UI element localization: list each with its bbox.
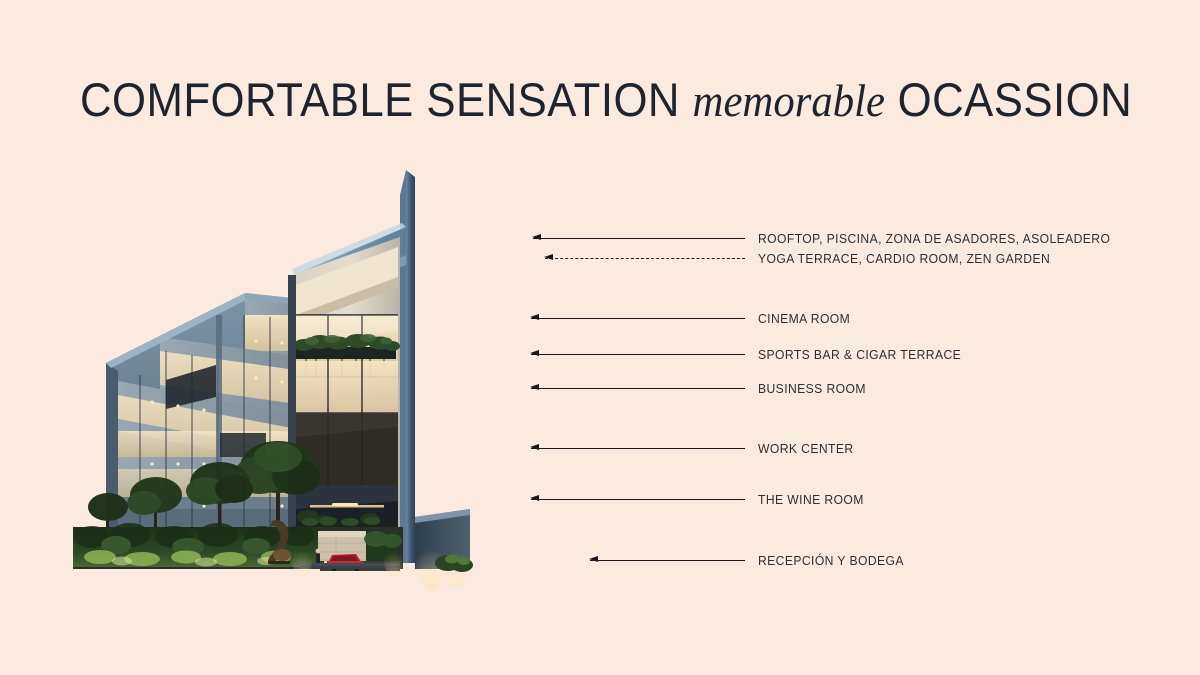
callout-row: ROOFTOP, PISCINA, ZONA DE ASADORES, ASOL… [533,228,1141,248]
callout-label: RECEPCIÓN Y BODEGA [758,553,904,568]
callout-row: BUSINESS ROOM [531,378,875,398]
callout-row: CINEMA ROOM [531,308,858,328]
callout-label: CINEMA ROOM [758,311,850,326]
right-side-wall [415,509,473,591]
presentation-slide: COMFORTABLE SENSATION memorable OCASSION [0,0,1200,675]
title-part-three: OCASSION [885,73,1132,126]
slide-title: COMFORTABLE SENSATION memorable OCASSION [80,74,1200,127]
tower [288,170,415,565]
title-part-one: COMFORTABLE SENSATION [80,73,693,126]
callout-arrow [590,560,745,561]
arrow-shaft [590,560,745,561]
callout-label: WORK CENTER [758,441,854,456]
callout-label: THE WINE ROOM [758,492,864,507]
callout-label: SPORTS BAR & CIGAR TERRACE [758,347,961,362]
arrow-head-icon [589,556,598,562]
callout-label: BUSINESS ROOM [758,381,866,396]
callout-label: YOGA TERRACE, CARDIO ROOM, ZEN GARDEN [758,251,1050,266]
callout-row: THE WINE ROOM [531,489,873,509]
callout-row: YOGA TERRACE, CARDIO ROOM, ZEN GARDEN [545,248,1076,268]
building-rendering [70,165,565,595]
callout-row: SPORTS BAR & CIGAR TERRACE [531,344,979,364]
callout-row: RECEPCIÓN Y BODEGA [590,550,917,570]
callout-row: WORK CENTER [531,438,862,458]
callout-label: ROOFTOP, PISCINA, ZONA DE ASADORES, ASOL… [758,231,1110,246]
callout-arrow [545,258,745,259]
title-part-italic: memorable [693,75,885,126]
arrow-shaft [545,258,745,259]
